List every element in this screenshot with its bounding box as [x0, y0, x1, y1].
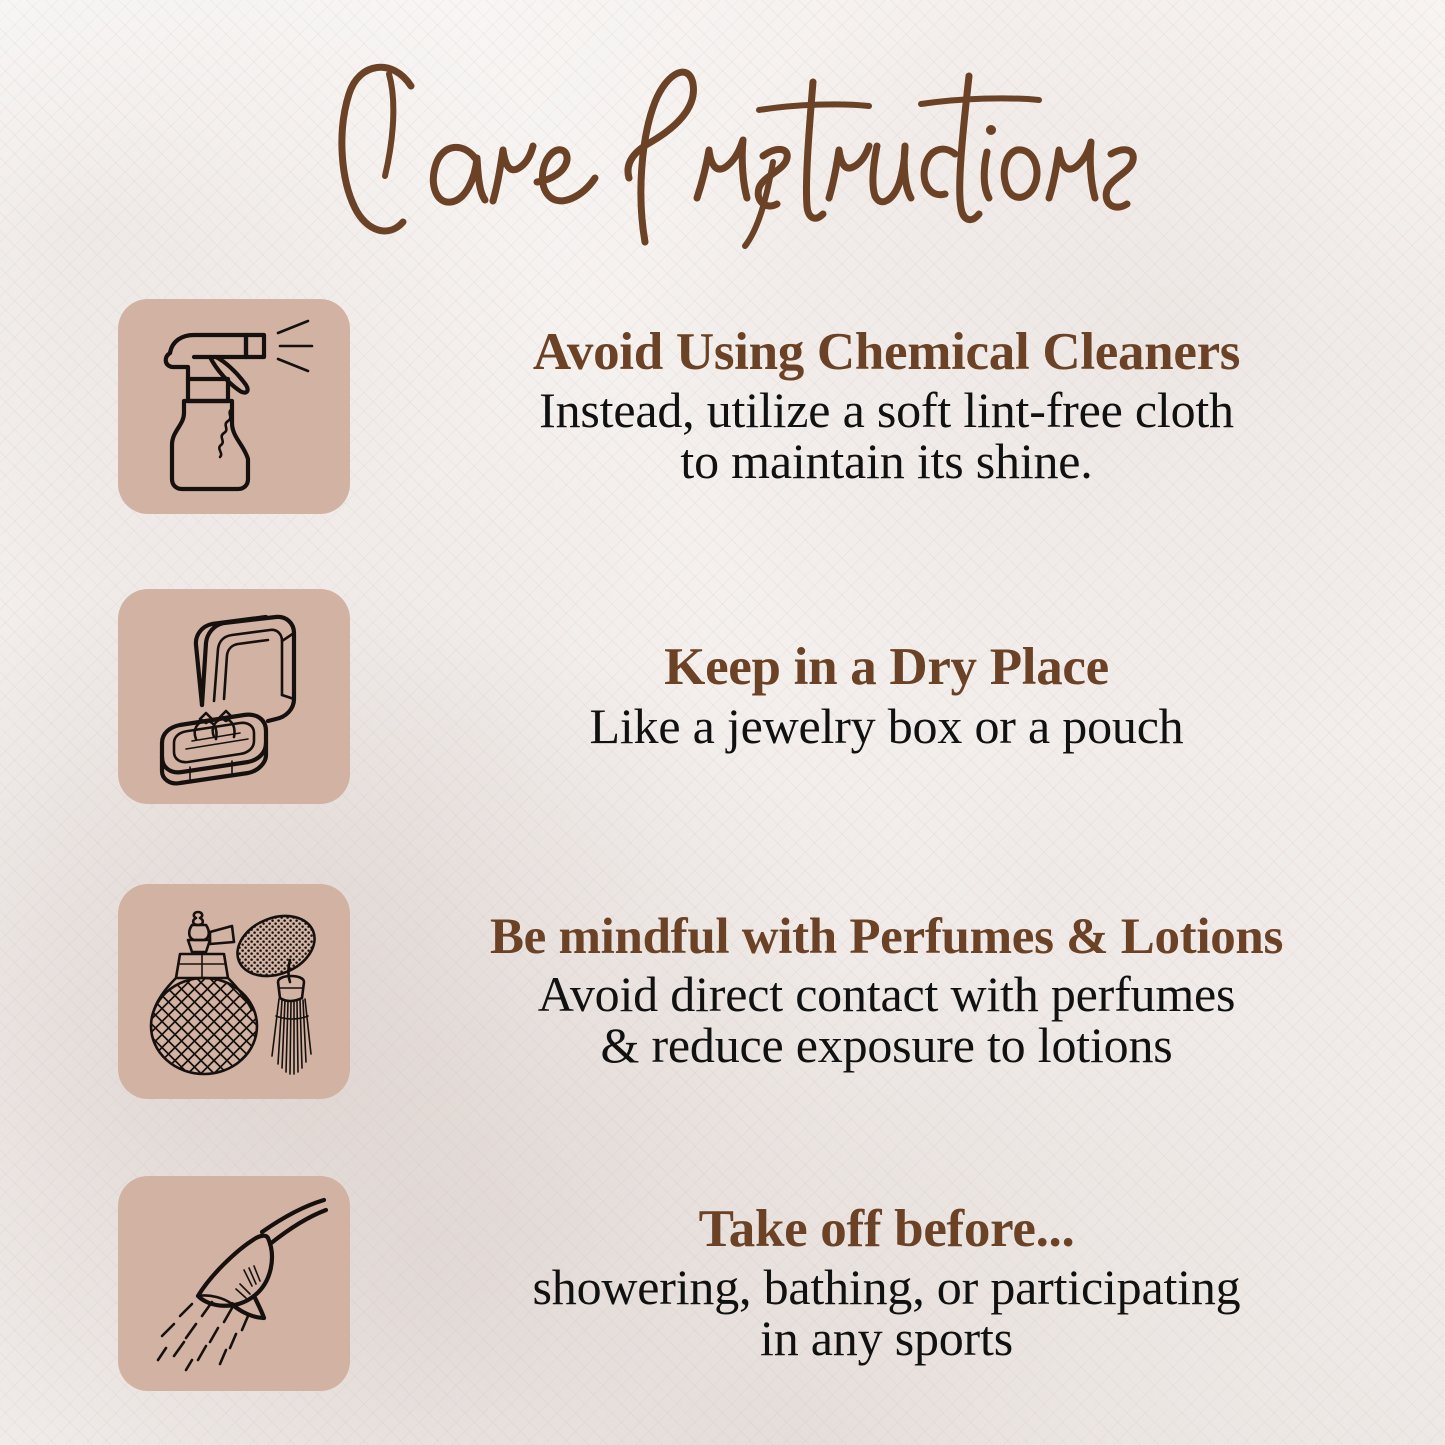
- instruction-body-line: Instead, utilize a soft lint-free cloth: [372, 385, 1401, 436]
- shower-head-icon: [136, 1190, 332, 1376]
- instruction-heading: Keep in a Dry Place: [372, 640, 1401, 694]
- instruction-text-block: Keep in a Dry Place Like a jewelry box o…: [350, 640, 1445, 751]
- care-instructions-infographic: Care Instructions: [0, 0, 1445, 1445]
- instruction-text-block: Take off before... showering, bathing, o…: [350, 1202, 1445, 1364]
- page-title-script-lettering: [293, 46, 1153, 261]
- instruction-heading: Take off before...: [372, 1202, 1401, 1256]
- jewelry-ring-box-icon: [136, 603, 332, 789]
- icon-tile-chemical-cleaners: [118, 299, 350, 514]
- instruction-text-block: Avoid Using Chemical Cleaners Instead, u…: [350, 325, 1445, 487]
- perfume-atomizer-icon: [136, 898, 332, 1084]
- instruction-body-line: showering, bathing, or participating: [372, 1262, 1401, 1313]
- icon-tile-perfumes-lotions: [118, 884, 350, 1099]
- icon-tile-dry-place: [118, 589, 350, 804]
- spray-bottle-icon: [136, 313, 332, 499]
- content-layer: Care Instructions: [0, 0, 1445, 1445]
- instruction-row: Avoid Using Chemical Cleaners Instead, u…: [0, 295, 1445, 517]
- instruction-body-line: to maintain its shine.: [372, 436, 1401, 487]
- instruction-text-block: Be mindful with Perfumes & Lotions Avoid…: [350, 911, 1445, 1071]
- instruction-body-line: in any sports: [372, 1313, 1401, 1364]
- icon-tile-take-off-before: [118, 1176, 350, 1391]
- page-title: Care Instructions: [0, 38, 1445, 268]
- instruction-row: Take off before... showering, bathing, o…: [0, 1172, 1445, 1394]
- instruction-row: Keep in a Dry Place Like a jewelry box o…: [0, 585, 1445, 807]
- instruction-body-line: Avoid direct contact with perfumes: [372, 969, 1401, 1020]
- instruction-row: Be mindful with Perfumes & Lotions Avoid…: [0, 880, 1445, 1102]
- instruction-heading: Avoid Using Chemical Cleaners: [372, 325, 1401, 379]
- instruction-heading: Be mindful with Perfumes & Lotions: [372, 911, 1401, 963]
- instruction-body-line: & reduce exposure to lotions: [372, 1020, 1401, 1071]
- instruction-body-line: Like a jewelry box or a pouch: [372, 701, 1401, 752]
